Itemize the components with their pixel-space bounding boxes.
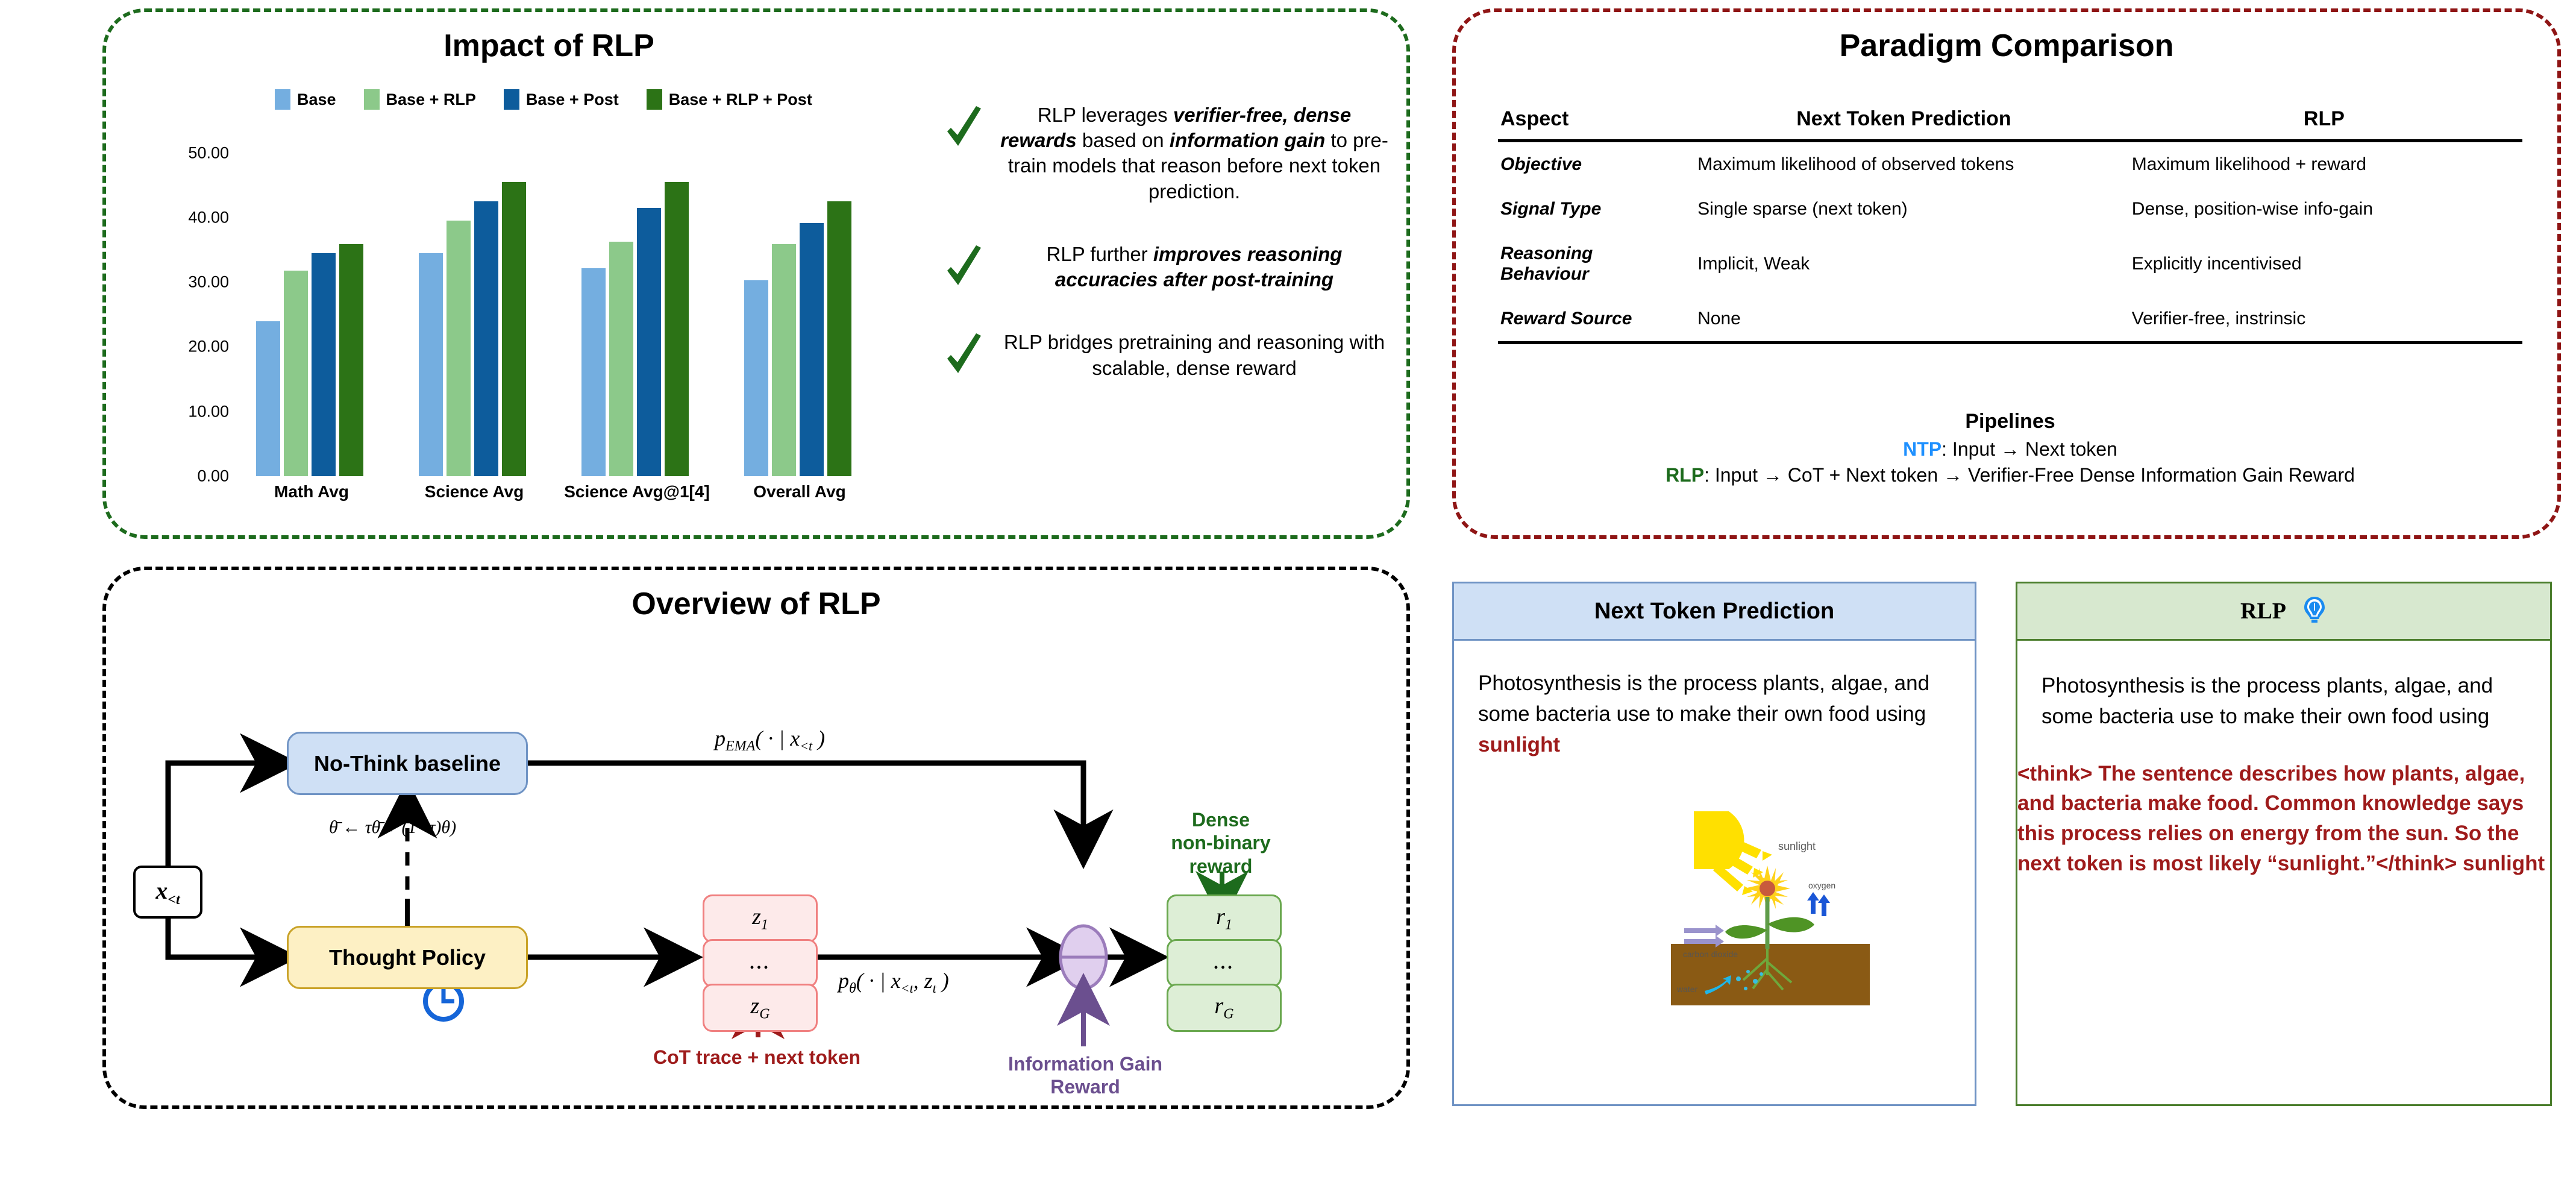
bullet-list: RLP leverages verifier-free, dense rewar… [944,102,1390,418]
ema-update-formula: θ̄ ← τθ̄ + (1−τ)θ) [329,817,456,838]
y-tick-2: 20.00 [188,338,229,356]
bar-3-2 [800,223,824,477]
bullet-item-1: RLP further improves reasoning accuracie… [944,242,1390,292]
bar-0-0 [256,321,280,476]
cot-trace-label: CoT trace + next token [600,1046,914,1069]
pipelines-section: Pipelines NTP: Input → Next token RLP: I… [1468,410,2552,490]
z-box-mid: ... [703,939,818,987]
legend-swatch [647,89,662,110]
y-tick-0: 0.00 [197,467,229,486]
z-box-g: zG [703,984,818,1032]
legend-item-2: Base + Post [504,89,619,110]
bar-1-1 [447,221,471,476]
y-tick-1: 10.00 [188,402,229,421]
check-icon [944,106,986,154]
legend-label: Base [297,90,336,109]
cell-ntp: None [1682,297,2126,343]
impact-of-rlp-panel: Impact of RLP BaseBase + RLPBase + PostB… [102,8,1410,539]
bar-2-3 [665,182,689,476]
cell-aspect: Objective [1498,141,1682,187]
ntp-flow: : Input → Next token [1941,438,2117,460]
comparison-table: Aspect Next Token Prediction RLP Objecti… [1498,102,2522,344]
bar-2-0 [581,268,606,476]
ntp-panel-body: Photosynthesis is the process plants, al… [1454,641,1975,760]
table-row: ObjectiveMaximum likelihood of observed … [1498,141,2522,187]
r-box-g: rG [1167,984,1282,1032]
table-row: Signal TypeSingle sparse (next token)Den… [1498,187,2522,231]
svg-text:sunlight: sunlight [1778,840,1816,852]
photosynthesis-diagram: sunlight oxygen carbon dioxide [1671,800,1906,1005]
ntp-highlight-token: sunlight [1478,733,1560,756]
col-header-aspect: Aspect [1498,102,1682,141]
bullet-text: RLP bridges pretraining and reasoning wi… [999,330,1390,380]
paradigm-comparison-panel: Paradigm Comparison Aspect Next Token Pr… [1452,8,2561,539]
z-box-1: z1 [703,894,818,943]
rlp-panel-title-bar: RLP [2017,583,2550,641]
bar-group-2 [581,121,689,476]
table-header: Aspect Next Token Prediction RLP [1498,102,2522,141]
check-icon [944,245,986,294]
bar-0-3 [339,244,363,476]
rlp-panel-body: Photosynthesis is the process plants, al… [2017,641,2550,732]
x-tick-1: Science Avg [425,482,524,501]
cell-ntp: Single sparse (next token) [1682,187,2126,231]
cell-rlp: Verifier-free, instrinsic [2126,297,2522,343]
input-node-label: x<t [155,876,180,908]
p-theta-label: pθ( · | x<t, zt ) [838,968,949,997]
svg-text:carbon dioxide: carbon dioxide [1683,949,1738,959]
bar-1-2 [474,201,498,476]
table-body: ObjectiveMaximum likelihood of observed … [1498,141,2522,343]
dense-reward-label: Dense non-binary reward [1130,808,1311,878]
r-box-1: r1 [1167,894,1282,943]
legend-swatch [504,89,519,110]
y-tick-5: 50.00 [188,143,229,162]
bar-0-2 [312,253,336,476]
bullet-text: RLP further improves reasoning accuracie… [999,242,1390,292]
ntp-tag: NTP [1903,438,1941,460]
legend-label: Base + Post [526,90,619,109]
legend-label: Base + RLP [386,90,476,109]
bullet-item-2: RLP bridges pretraining and reasoning wi… [944,330,1390,380]
cell-rlp: Explicitly incentivised [2126,231,2522,297]
cell-ntp: Maximum likelihood of observed tokens [1682,141,2126,187]
table-row: Reward SourceNoneVerifier-free, instrins… [1498,297,2522,343]
chart-plot-area: Math AvgScience AvgScience Avg@1[4]Overa… [236,121,886,476]
rlp-panel-title: RLP [2240,598,2286,624]
lightbulb-icon [2302,595,2327,627]
bar-3-1 [772,244,796,476]
legend-item-1: Base + RLP [364,89,476,110]
bullet-text: RLP leverages verifier-free, dense rewar… [999,102,1390,204]
thought-policy-node: Thought Policy [287,926,528,989]
col-header-ntp: Next Token Prediction [1682,102,2126,141]
cell-aspect: Signal Type [1498,187,1682,231]
bar-0-1 [284,271,308,476]
legend-swatch [364,89,380,110]
cell-aspect: Reasoning Behaviour [1498,231,1682,297]
legend-item-0: Base [275,89,336,110]
y-tick-3: 30.00 [188,273,229,292]
input-node: x<t [133,866,202,919]
no-think-baseline-node: No-Think baseline [287,732,528,795]
bar-group-3 [744,121,851,476]
x-tick-2: Science Avg@1[4] [564,482,710,501]
bar-3-3 [827,201,851,476]
y-tick-4: 40.00 [188,208,229,227]
cell-ntp: Implicit, Weak [1682,231,2126,297]
svg-text:water: water [1676,984,1698,994]
ntp-panel-title: Next Token Prediction [1454,583,1975,641]
p-ema-label: pEMA( · | x<t ) [715,726,825,755]
check-icon [944,333,986,382]
next-token-prediction-panel: Next Token Prediction Photosynthesis is … [1452,582,1976,1106]
cell-rlp: Maximum likelihood + reward [2126,141,2522,187]
legend-label: Base + RLP + Post [669,90,812,109]
page-title: Impact of RLP [106,28,992,64]
col-header-rlp: RLP [2126,102,2522,141]
cell-rlp: Dense, position-wise info-gain [2126,187,2522,231]
pipeline-rlp: RLP: Input → CoT + Next token → Verifier… [1468,464,2552,486]
pipeline-ntp: NTP: Input → Next token [1468,438,2552,460]
pipelines-heading: Pipelines [1468,410,2552,433]
r-box-mid: ... [1167,939,1282,987]
x-tick-0: Math Avg [274,482,349,501]
bar-2-2 [637,208,661,476]
legend-item-3: Base + RLP + Post [647,89,812,110]
bar-group-0 [256,121,363,476]
bar-chart: 0.0010.0020.0030.0040.0050.00 Math AvgSc… [142,121,920,518]
bullet-item-0: RLP leverages verifier-free, dense rewar… [944,102,1390,204]
rlp-flow: : Input → CoT + Next token → Verifier-Fr… [1704,464,2355,486]
chart-legend: BaseBase + RLPBase + PostBase + RLP + Po… [275,89,812,110]
svg-text:oxygen: oxygen [1808,881,1835,890]
bar-2-1 [609,242,633,476]
bar-3-0 [744,280,768,476]
cell-aspect: Reward Source [1498,297,1682,343]
overview-of-rlp-panel: Overview of RLP [102,567,1410,1109]
bar-group-1 [419,121,526,476]
bar-1-3 [502,182,526,476]
rlp-tag: RLP [1666,464,1704,486]
y-axis-labels: 0.0010.0020.0030.0040.0050.00 [142,121,233,476]
ntp-text: Photosynthesis is the process plants, al… [1478,671,1929,726]
rlp-panel: RLP Photosynthesis is the process plants… [2016,582,2552,1106]
rlp-think-text: <think> The sentence describes how plant… [2017,759,2550,879]
paradigm-title: Paradigm Comparison [1456,28,2557,64]
x-tick-3: Overall Avg [753,482,846,501]
bar-1-0 [419,253,443,476]
information-gain-label: Information Gain Reward [974,1052,1197,1099]
legend-swatch [275,89,290,110]
table-row: Reasoning BehaviourImplicit, WeakExplici… [1498,231,2522,297]
